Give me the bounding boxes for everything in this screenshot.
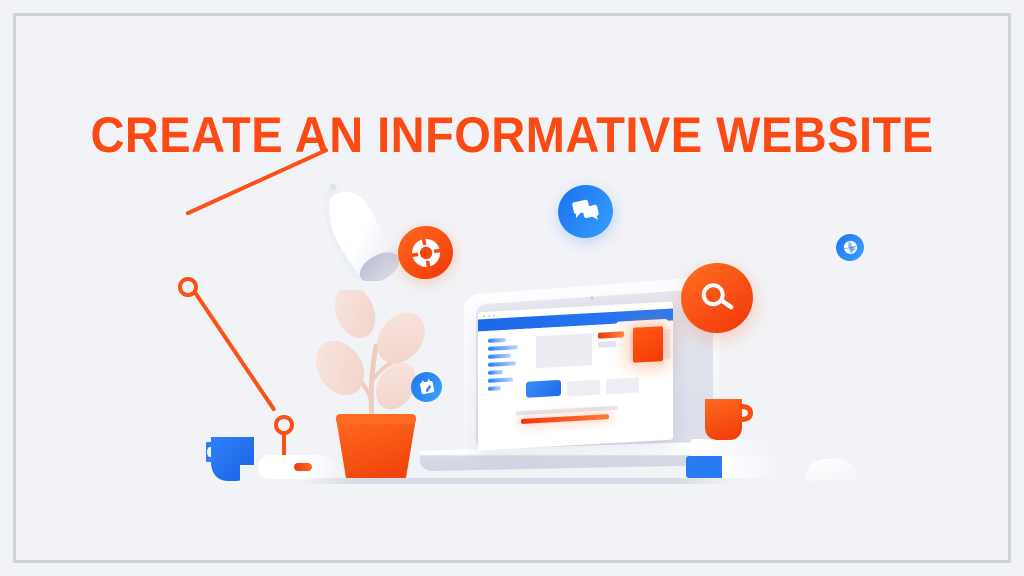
- coffee-mug-blue: [206, 432, 262, 484]
- sidebar-link[interactable]: [488, 338, 506, 343]
- content-card[interactable]: [606, 377, 639, 394]
- desk-surface-shadow: [300, 478, 730, 484]
- chat-badge[interactable]: [553, 180, 618, 243]
- subheadline-bar: [598, 341, 616, 348]
- book-white: [691, 439, 767, 457]
- window-dot-close-icon: [483, 315, 485, 318]
- headline-accent-bar: [598, 331, 624, 338]
- globe-icon: [841, 239, 859, 257]
- lifebuoy-icon: [408, 235, 443, 270]
- site-content: [478, 321, 673, 451]
- coffee-mug-orange: [703, 397, 755, 441]
- lamp-joint-middle: [178, 277, 198, 297]
- content-card[interactable]: [567, 380, 600, 397]
- chat-bubbles-icon: [568, 197, 602, 227]
- lamp-arm-lower: [190, 287, 276, 412]
- sidebar-link[interactable]: [488, 345, 518, 351]
- hero-image-block: [536, 333, 592, 368]
- lamp-shade: [312, 183, 404, 281]
- computer-mouse: [805, 459, 857, 481]
- window-dot-maximize-icon: [493, 314, 495, 317]
- slide-canvas: CREATE AN INFORMATIVE WEBSITE: [0, 0, 1024, 576]
- primary-cta-button[interactable]: [526, 380, 561, 398]
- featured-card[interactable]: [633, 326, 663, 363]
- book-blue: [686, 456, 781, 478]
- calendar-edit-icon: [417, 378, 436, 397]
- window-dot-minimize-icon: [488, 314, 490, 317]
- sidebar-link[interactable]: [488, 386, 501, 391]
- magnifier-icon: [696, 277, 739, 320]
- browser-window-mockup: [478, 302, 673, 451]
- sidebar-link[interactable]: [488, 354, 511, 360]
- illustration-desk-workspace: [0, 0, 1024, 576]
- web-badge[interactable]: [833, 231, 866, 263]
- sidebar-link[interactable]: [488, 361, 516, 367]
- footer-accent-line: [521, 414, 609, 424]
- sidebar-link[interactable]: [488, 377, 513, 383]
- lamp-arm-upper: [185, 147, 329, 215]
- sidebar-link[interactable]: [488, 370, 503, 375]
